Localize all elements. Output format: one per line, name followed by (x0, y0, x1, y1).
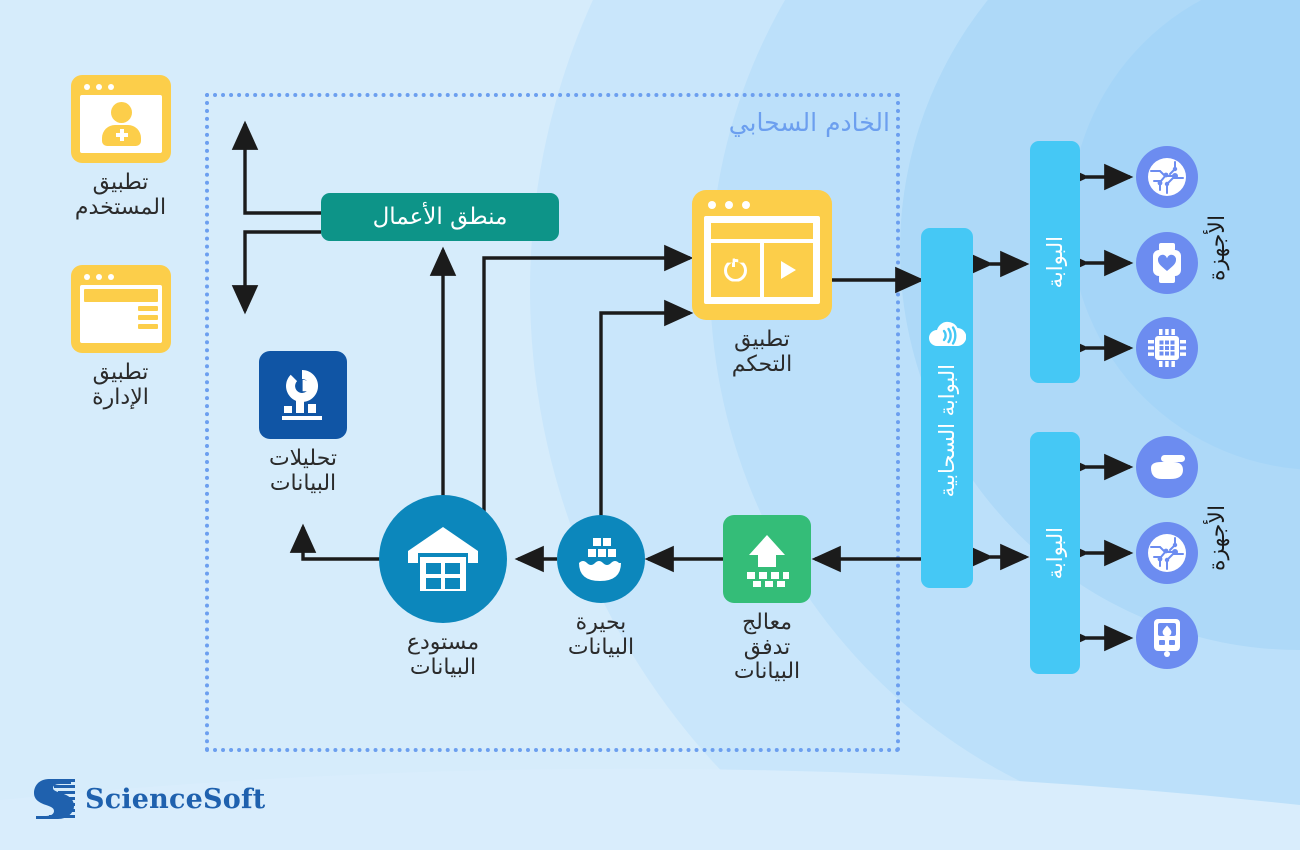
node-user-app-label: تطبيق المستخدم (75, 171, 166, 220)
node-data-lake[interactable]: بحيرة البيانات (557, 515, 645, 660)
circuit-board-icon (1147, 157, 1187, 197)
node-business-logic[interactable]: منطق الأعمال (321, 193, 559, 241)
admin-app-window-icon (71, 265, 171, 353)
node-data-analytics[interactable]: تحليلات البيانات (259, 351, 347, 496)
diagram-canvas: الخادم السحابي (0, 0, 1300, 850)
node-gateway-bottom[interactable]: البوابة (1030, 432, 1080, 674)
node-data-warehouse-label: مستودع البيانات (407, 631, 479, 680)
data-lake-icon (557, 515, 645, 603)
node-control-app-label: تطبيق التحكم (732, 328, 792, 377)
microchip-icon (1148, 329, 1186, 367)
device-circuit-board-top[interactable] (1136, 146, 1198, 208)
cloud-signal-icon (928, 318, 966, 354)
analytics-chart-icon (259, 351, 347, 439)
cloud-server-label: الخادم السحابي (640, 108, 890, 137)
node-stream-processor-label: معالج تدفق البيانات (723, 611, 811, 685)
node-stream-processor[interactable]: معالج تدفق البيانات (723, 515, 811, 685)
power-icon (711, 243, 760, 297)
node-business-logic-label: منطق الأعمال (373, 204, 508, 230)
node-gateway-top[interactable]: البوابة (1030, 141, 1080, 383)
user-app-window-icon (71, 75, 171, 163)
warehouse-icon (379, 495, 507, 623)
smartwatch-heart-icon (1150, 243, 1184, 283)
logo-text-soft: Soft (203, 784, 265, 815)
node-cloud-gateway[interactable]: البوابة السحابية (921, 228, 973, 588)
node-gateway-bottom-label: البوابة (1043, 527, 1067, 579)
node-cloud-gateway-label: البوابة السحابية (935, 364, 959, 497)
sciencesoft-logo: ScienceSoft (33, 777, 265, 821)
device-microchip-top[interactable] (1136, 317, 1198, 379)
node-admin-app-label: تطبيق الإدارة (92, 361, 149, 410)
node-admin-app[interactable]: تطبيق الإدارة (68, 265, 173, 410)
devices-top-label: الأجهزة (1205, 215, 1230, 325)
control-app-window-icon (692, 190, 832, 320)
node-gateway-top-label: البوابة (1043, 236, 1067, 288)
play-icon (764, 243, 813, 297)
node-data-analytics-label: تحليلات البيانات (269, 447, 337, 496)
sciencesoft-wordmark: ScienceSoft (85, 784, 265, 815)
device-circuit-board-bottom[interactable] (1136, 522, 1198, 584)
pulse-oximeter-icon (1147, 452, 1187, 482)
devices-bottom-label: الأجهزة (1205, 505, 1230, 615)
node-user-app[interactable]: تطبيق المستخدم (68, 75, 173, 220)
node-data-warehouse[interactable]: مستودع البيانات (379, 495, 507, 680)
device-smartwatch-top[interactable] (1136, 232, 1198, 294)
logo-text-science: Science (85, 784, 203, 815)
device-pulse-oximeter[interactable] (1136, 436, 1198, 498)
sciencesoft-s-mark-icon (33, 777, 75, 821)
circuit-board-icon (1147, 533, 1187, 573)
glucose-meter-icon (1151, 618, 1183, 658)
node-control-app[interactable]: تطبيق التحكم (692, 190, 832, 377)
node-data-lake-label: بحيرة البيانات (568, 611, 634, 660)
device-glucose-meter[interactable] (1136, 607, 1198, 669)
stream-upload-icon (723, 515, 811, 603)
